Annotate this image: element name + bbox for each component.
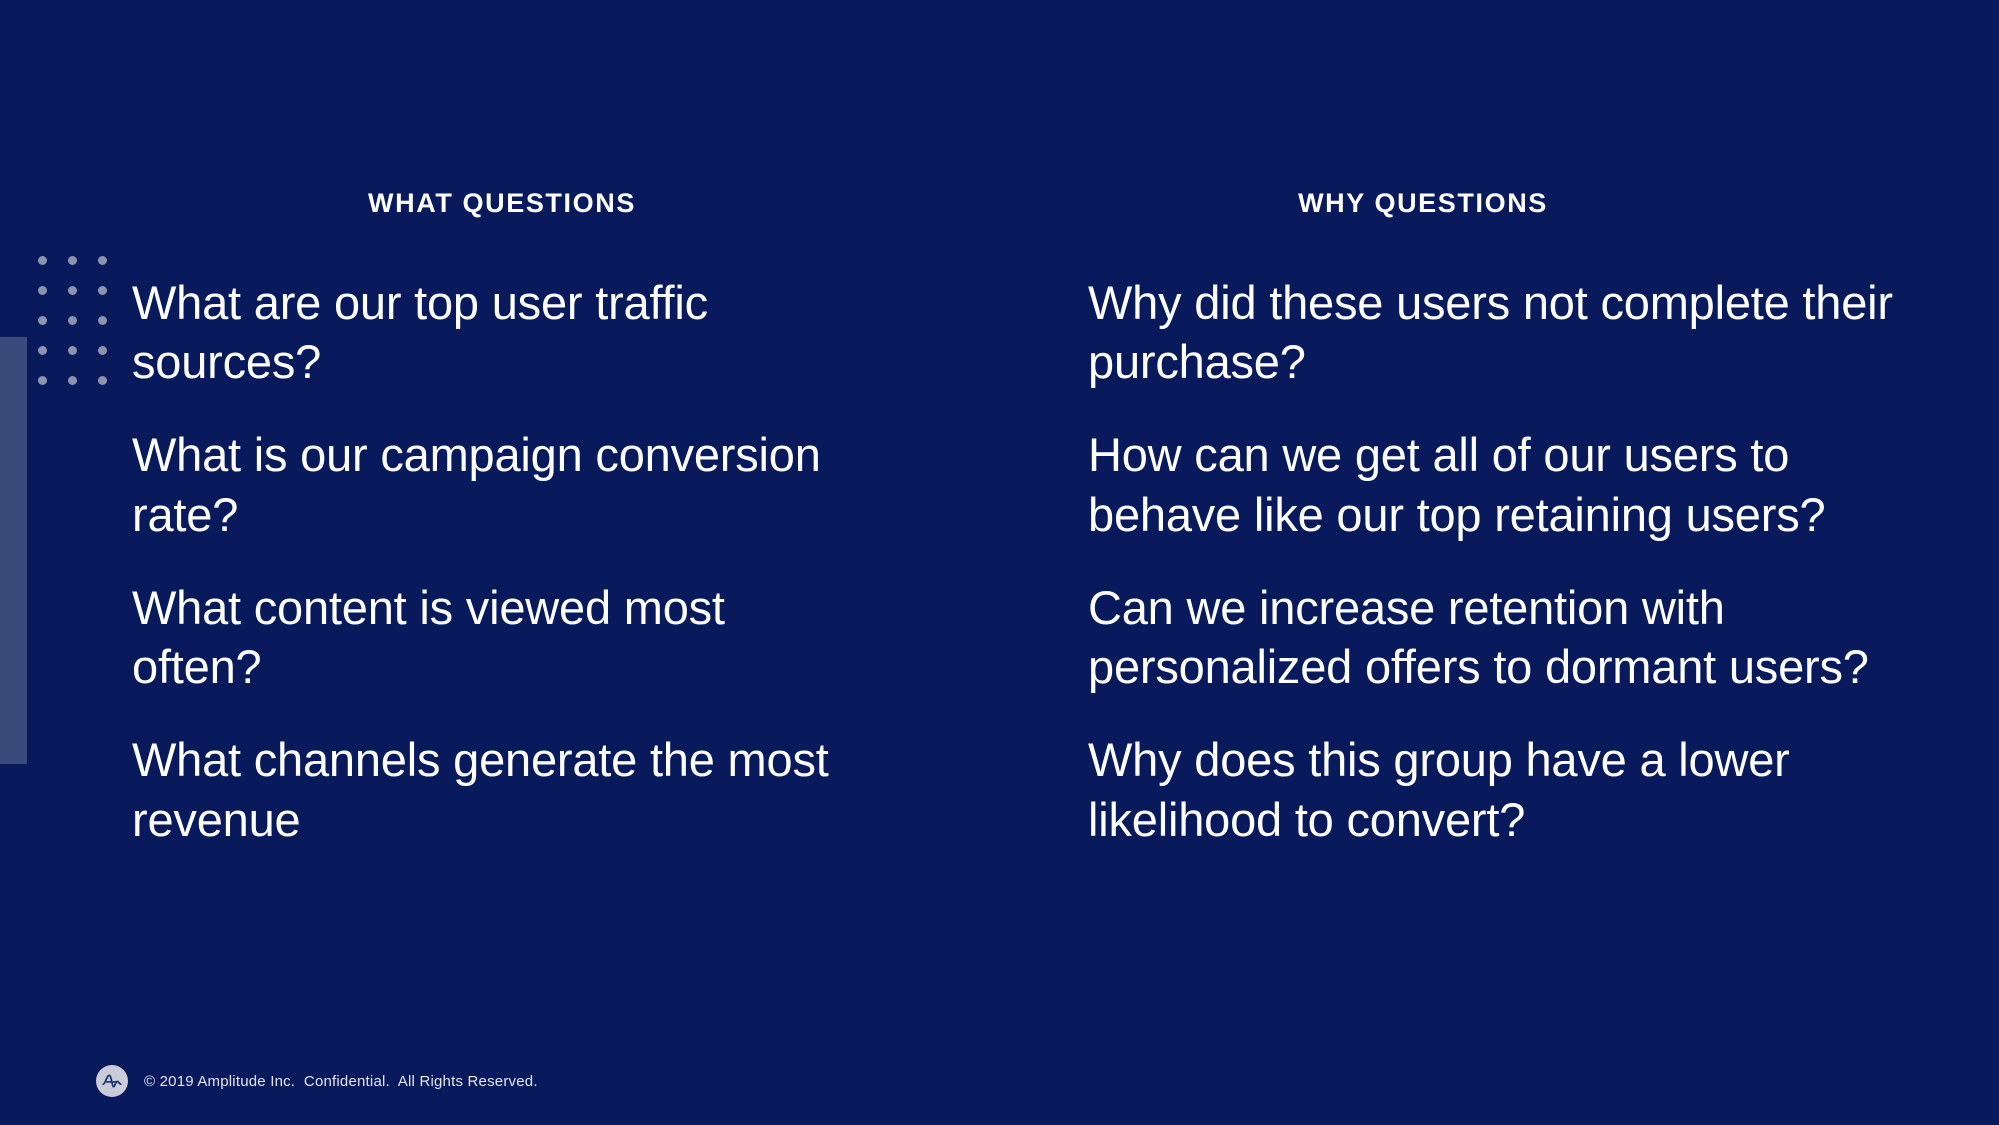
grid-dot [98,376,107,385]
grid-dot [38,256,47,265]
grid-dot [38,376,47,385]
question-item: Can we increase retention with personali… [1088,578,1898,696]
amplitude-logo-icon [96,1065,128,1097]
what-questions-heading: WHAT QUESTIONS [132,190,962,217]
grid-dot [98,286,107,295]
grid-dot [68,346,77,355]
question-item: What is our campaign conversion rate? [132,425,832,543]
grid-dot [68,376,77,385]
question-item: How can we get all of our users to behav… [1088,425,1898,543]
dot-grid-decoration [38,256,128,406]
question-item: Why did these users not complete their p… [1088,273,1898,391]
grid-dot [98,256,107,265]
grid-dot [38,286,47,295]
grid-dot [98,346,107,355]
grid-dot [98,316,107,325]
slide-footer: © 2019 Amplitude Inc. Confidential. All … [96,1065,538,1097]
copyright-text: © 2019 Amplitude Inc. Confidential. All … [144,1073,538,1090]
left-accent-bar [0,337,27,764]
slide-canvas: WHAT QUESTIONS What are our top user tra… [0,0,1999,1125]
why-questions-list: Why did these users not complete their p… [1088,273,1948,849]
question-item: What channels generate the most revenue [132,730,832,848]
why-questions-heading: WHY QUESTIONS [1088,190,1948,217]
question-item: Why does this group have a lower likelih… [1088,730,1898,848]
grid-dot [38,316,47,325]
why-questions-column: WHY QUESTIONS Why did these users not co… [1088,190,1948,849]
question-item: What are our top user traffic sources? [132,273,832,391]
grid-dot [68,316,77,325]
question-item: What content is viewed most often? [132,578,832,696]
grid-dot [68,286,77,295]
grid-dot [38,346,47,355]
what-questions-column: WHAT QUESTIONS What are our top user tra… [132,190,962,849]
what-questions-list: What are our top user traffic sources? W… [132,273,962,849]
grid-dot [68,256,77,265]
